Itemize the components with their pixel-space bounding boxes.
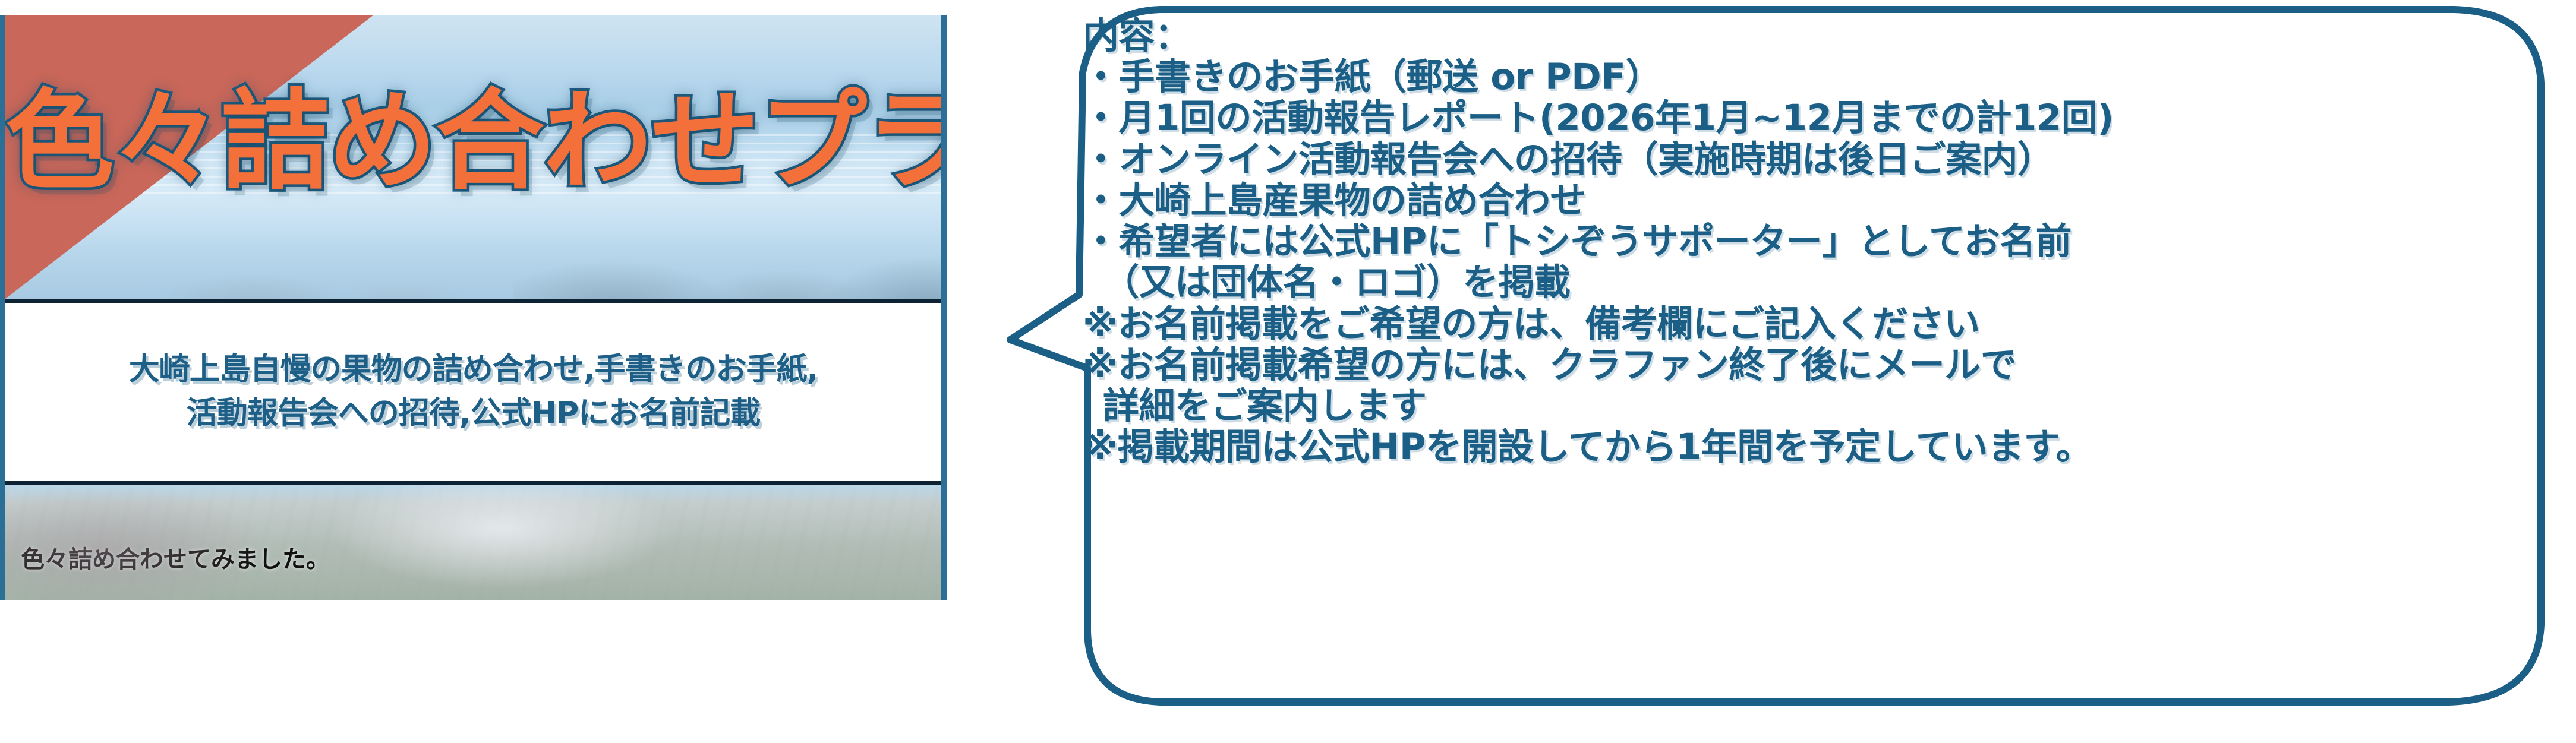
plan-description-line-2: 活動報告会への招待,公式HPにお名前記載 (129, 392, 818, 436)
plan-description-band: 大崎上島自慢の果物の詰め合わせ,手書きのお手紙, 活動報告会への招待,公式HPに… (5, 303, 941, 485)
hero-hills-near (513, 218, 941, 303)
bubble-line-2: ・手書きのお手紙（郵送 or PDF） (1083, 56, 2546, 97)
speech-bubble: 内容： ・手書きのお手紙（郵送 or PDF） ・月1回の活動報告レポート(20… (1004, 1, 2573, 712)
photo-caption: 色々詰め合わせてみました。 (21, 540, 330, 574)
bubble-line-3: ・月1回の活動報告レポート(2026年1月~12月までの計12回) (1083, 97, 2546, 138)
plan-title: 色々詰め合わせプラン (5, 87, 941, 196)
bubble-line-1: 内容： (1083, 15, 2546, 56)
bubble-line-10: 詳細をご案内します (1083, 385, 2546, 426)
speech-bubble-text: 内容： ・手書きのお手紙（郵送 or PDF） ・月1回の活動報告レポート(20… (1083, 10, 2546, 688)
plan-card: 色々詰め合わせプラン 大崎上島自慢の果物の詰め合わせ,手書きのお手紙, 活動報告… (0, 15, 947, 600)
plan-description-line-1: 大崎上島自慢の果物の詰め合わせ,手書きのお手紙, (129, 348, 818, 392)
bubble-line-9: ※お名前掲載希望の方には、クラファン終了後にメールで (1083, 344, 2546, 385)
plan-description: 大崎上島自慢の果物の詰め合わせ,手書きのお手紙, 活動報告会への招待,公式HPに… (116, 348, 831, 436)
bubble-line-4: ・オンライン活動報告会への招待（実施時期は後日ご案内） (1083, 139, 2546, 180)
plan-photo-strip: 色々詰め合わせてみました。 (5, 485, 941, 600)
bubble-line-5: ・大崎上島産果物の詰め合わせ (1083, 180, 2546, 221)
bubble-line-8: ※お名前掲載をご希望の方は、備考欄にご記入ください (1083, 303, 2546, 344)
hero-hills-far (124, 239, 493, 303)
bubble-line-7: （又は団体名・ロゴ）を掲載 (1083, 262, 2546, 303)
plan-hero-image: 色々詰め合わせプラン (5, 15, 941, 303)
bubble-line-11: ※掲載期間は公式HPを開設してから1年間を予定しています。 (1083, 426, 2546, 467)
bubble-line-6: ・希望者には公式HPに「トシぞうサポーター」としてお名前 (1083, 221, 2546, 262)
